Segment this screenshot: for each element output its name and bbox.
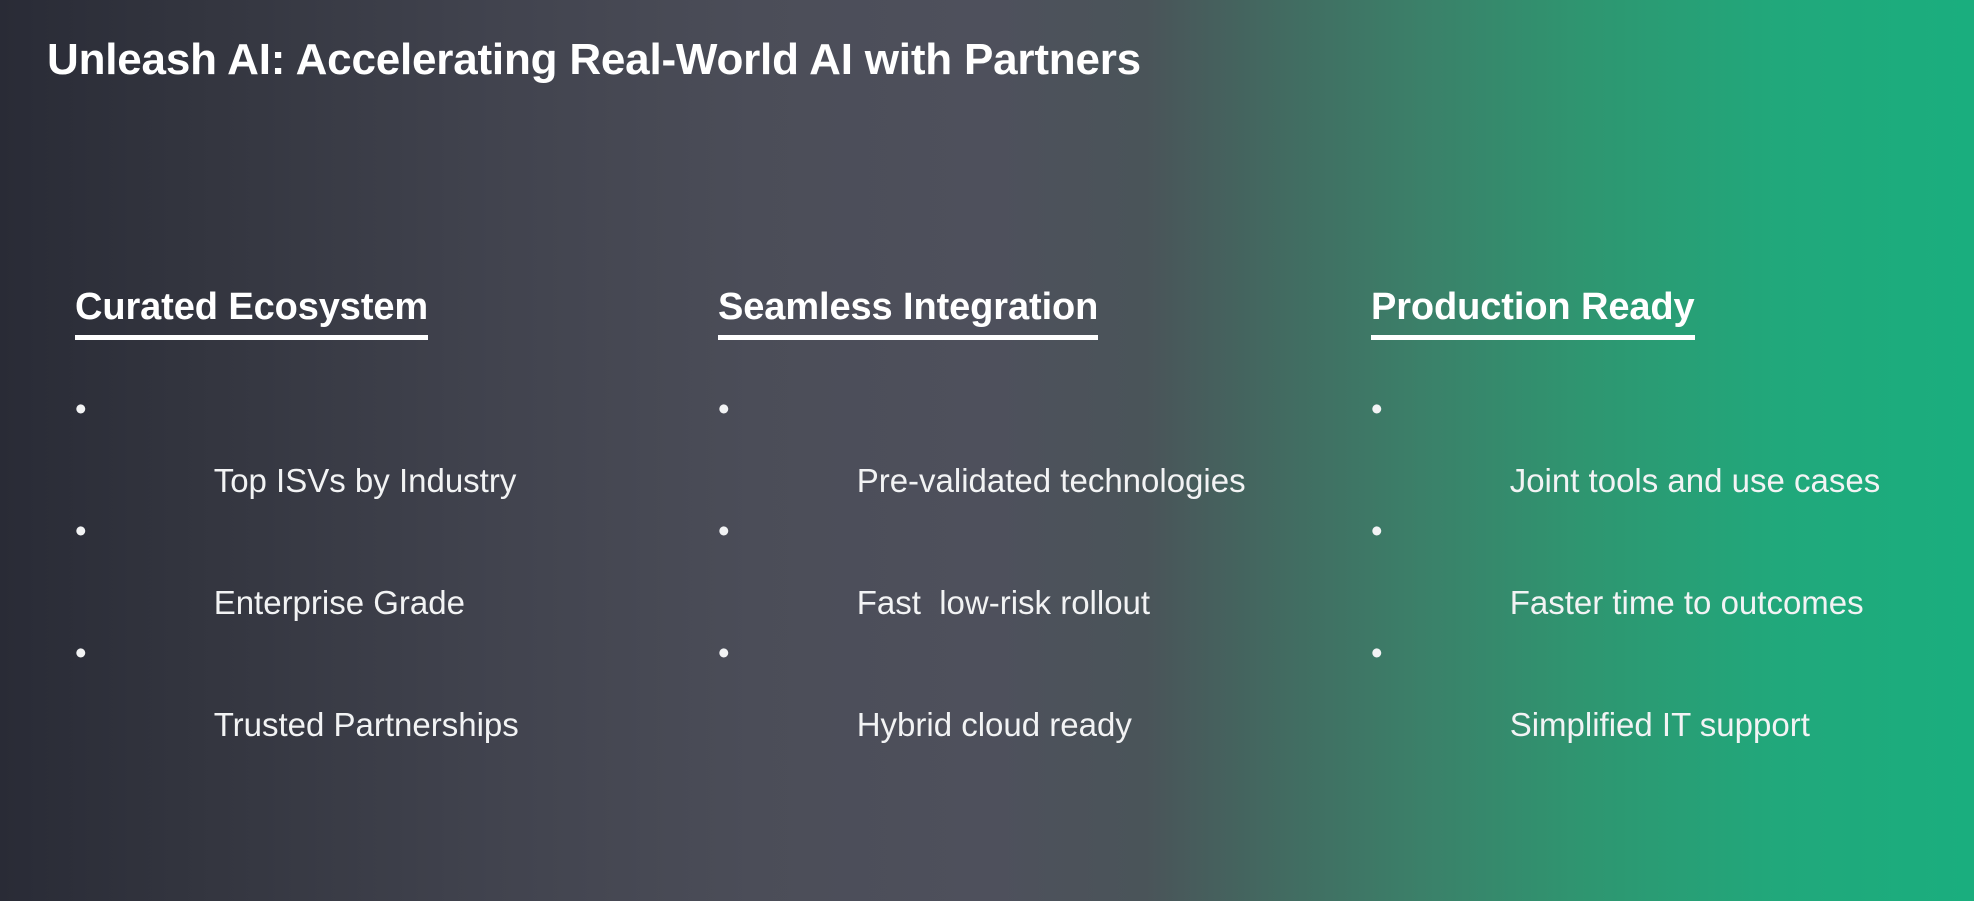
column-curated-ecosystem: Curated Ecosystem • Top ISVs by Industry… [75,286,675,340]
bullet-icon: • [718,635,730,671]
column-seamless-integration: Seamless Integration • Pre-validated tec… [718,286,1338,340]
list-item-label: Trusted Partnerships [214,707,519,743]
columns-container: Curated Ecosystem • Top ISVs by Industry… [0,286,1974,846]
column-header-production-ready: Production Ready [1371,286,1695,340]
bullet-list-curated-ecosystem: • Top ISVs by Industry • Enterprise Grad… [75,390,675,756]
list-item-label: Top ISVs by Industry [214,463,517,499]
column-header-seamless-integration: Seamless Integration [718,286,1098,340]
bullet-icon: • [718,391,730,427]
bullet-icon: • [75,391,87,427]
list-item-label: Enterprise Grade [214,585,465,621]
list-item-label: Hybrid cloud ready [857,707,1132,743]
bullet-icon: • [1371,391,1383,427]
bullet-icon: • [75,513,87,549]
bullet-list-production-ready: • Joint tools and use cases • Faster tim… [1371,390,1971,756]
list-item: • Top ISVs by Industry [75,390,675,512]
list-item-label: Joint tools and use cases [1510,463,1881,499]
bullet-icon: • [75,635,87,671]
list-item: • Hybrid cloud ready [718,634,1338,756]
list-item: • Trusted Partnerships [75,634,675,756]
list-item: • Enterprise Grade [75,512,675,634]
list-item: • Pre-validated technologies [718,390,1338,512]
page-title: Unleash AI: Accelerating Real-World AI w… [47,36,1747,84]
bullet-icon: • [1371,635,1383,671]
column-production-ready: Production Ready • Joint tools and use c… [1371,286,1971,340]
bullet-list-seamless-integration: • Pre-validated technologies • Fast low-… [718,390,1338,756]
list-item-label: Pre-validated technologies [857,463,1246,499]
list-item: • Fast low-risk rollout [718,512,1338,634]
list-item-label: Fast low-risk rollout [857,585,1150,621]
list-item: • Faster time to outcomes [1371,512,1971,634]
column-header-curated-ecosystem: Curated Ecosystem [75,286,428,340]
bullet-icon: • [718,513,730,549]
list-item-label: Simplified IT support [1510,707,1810,743]
list-item: • Joint tools and use cases [1371,390,1971,512]
list-item-label: Faster time to outcomes [1510,585,1864,621]
list-item: • Simplified IT support [1371,634,1971,756]
slide-canvas: Unleash AI: Accelerating Real-World AI w… [0,0,1974,901]
bullet-icon: • [1371,513,1383,549]
